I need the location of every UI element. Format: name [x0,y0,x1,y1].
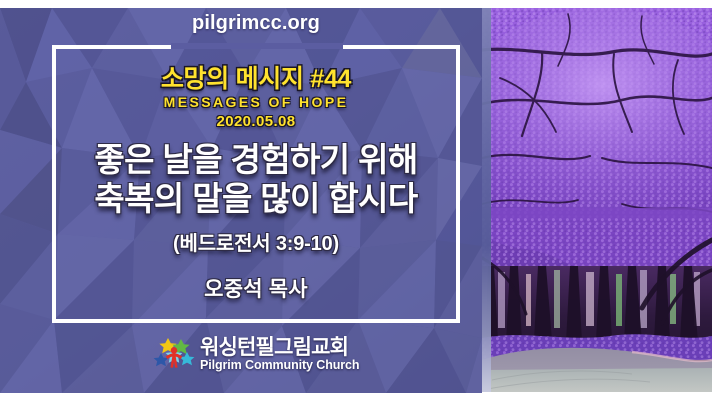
sermon-title-slide: pilgrimcc.org 소망의 메시지 #44 MESSAGES OF HO… [0,0,720,405]
slide-content: pilgrimcc.org 소망의 메시지 #44 MESSAGES OF HO… [52,45,460,323]
church-name-english: Pilgrim Community Church [200,359,359,372]
sermon-title: 좋은 날을 경험하기 위해 축복의 말을 많이 합시다 [94,141,417,218]
star-people-logo-icon [153,334,195,374]
church-name-block: 워싱턴필그림교회 Pilgrim Community Church [200,337,359,372]
sermon-title-line-2: 축복의 말을 많이 합시다 [94,180,417,218]
church-name-korean: 워싱턴필그림교회 [200,337,359,358]
jacaranda-tree-tunnel-illustration [482,8,712,392]
scripture-reference: (베드로전서 3:9-10) [173,227,339,256]
sermon-title-line-1: 좋은 날을 경험하기 위해 [94,141,417,179]
jacaranda-photo [482,8,712,392]
church-logo-lockup: 워싱턴필그림교회 Pilgrim Community Church [153,331,363,377]
sermon-date: 2020.05.08 [216,113,295,130]
speaker-name: 오중석 목사 [204,273,308,303]
series-title-english: MESSAGES OF HOPE [164,94,349,110]
photo-edge-gradient [482,8,491,392]
site-url: pilgrimcc.org [52,12,460,35]
series-title-korean: 소망의 메시지 #44 [161,66,351,92]
